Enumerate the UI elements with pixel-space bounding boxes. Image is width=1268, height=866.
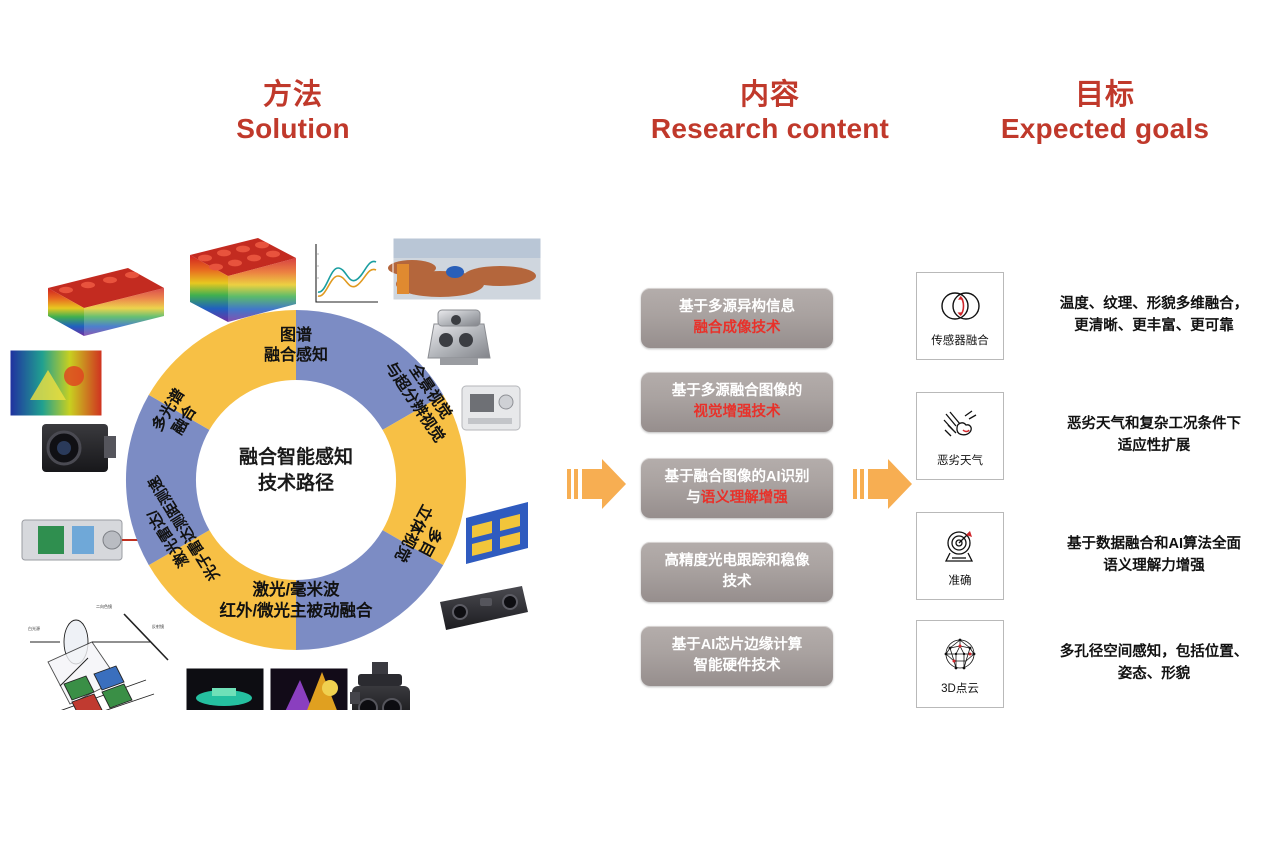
box-line-2: 融合成像技术 [679, 318, 795, 339]
header-en: Solution [168, 112, 418, 145]
goal-line-2: 更清晰、更丰富、更可靠 [1034, 316, 1268, 338]
center-line-1: 融合智能感知 [206, 445, 386, 471]
goal-card-point-cloud[interactable]: 3D点云 [916, 620, 1004, 708]
header-en: Research content [600, 112, 940, 145]
center-line-2: 技术路径 [206, 471, 386, 497]
label-line-2: 红外/微光主被动融合 [156, 601, 436, 622]
box-line-1: 基于多源异构信息 [679, 297, 795, 318]
flow-arrow-2 [852, 455, 916, 513]
box-line-2: 技术 [665, 572, 810, 593]
box-line-2-prefix: 与 [686, 490, 701, 506]
camera-module-thumb [42, 424, 116, 472]
column-header-expected-goals: 目标 Expected goals [955, 78, 1255, 145]
flow-arrow-1 [566, 455, 630, 513]
box-line-2: 视觉增强技术 [672, 402, 803, 423]
box-line-2: 语义理解增强 [701, 490, 788, 506]
goal-line-2: 适应性扩展 [1034, 436, 1268, 458]
svg-text:白光源: 白光源 [28, 625, 40, 631]
goal-row-point-cloud: 3D点云 多孔径空间感知，包括位置、 姿态、形貌 [916, 620, 1268, 708]
header-zh: 目标 [955, 78, 1255, 112]
box-line-2: 智能硬件技术 [672, 656, 803, 677]
svg-text:二向色镜: 二向色镜 [96, 603, 112, 609]
goal-caption: 3D点云 [941, 680, 979, 696]
wheel-label-top: 图谱 融合感知 [226, 326, 366, 366]
goal-description-point-cloud: 多孔径空间感知，包括位置、 姿态、形貌 [1034, 642, 1268, 686]
venn-fusion-icon [936, 284, 984, 328]
wheel-center-label: 融合智能感知 技术路径 [206, 445, 386, 496]
point-cloud-icon [936, 632, 984, 676]
research-box-1[interactable]: 基于多源融合图像的 视觉增强技术 [641, 372, 833, 432]
spectrum-plot-thumb [316, 244, 378, 302]
goal-row-sensor-fusion: 传感器融合 温度、纹理、形貌多维融合， 更清晰、更丰富、更可靠 [916, 272, 1268, 360]
column-header-solution: 方法 Solution [168, 78, 418, 145]
research-box-3[interactable]: 高精度光电跟踪和稳像 技术 [641, 542, 833, 602]
research-box-2[interactable]: 基于融合图像的AI识别 与语义理解增强 [641, 458, 833, 518]
thermal-scene-thumb [270, 668, 348, 710]
goal-caption: 传感器融合 [931, 332, 989, 348]
research-box-0[interactable]: 基于多源异构信息 融合成像技术 [641, 288, 833, 348]
goal-line-2: 姿态、形貌 [1034, 664, 1268, 686]
label-line-2: 融合感知 [226, 346, 366, 366]
box-line-1: 高精度光电跟踪和稳像 [665, 551, 810, 572]
goal-row-accuracy: 准确 基于数据融合和AI算法全面 语义理解力增强 [916, 512, 1268, 600]
technology-roadmap-wheel: 融合智能感知 技术路径 图谱 融合感知 全景视觉 与超分辨视觉 多目 立体视觉 … [116, 300, 476, 660]
goal-card-bad-weather[interactable]: 恶劣天气 [916, 392, 1004, 480]
header-zh: 方法 [168, 78, 418, 112]
svg-text:探测器阵列: 探测器阵列 [128, 709, 148, 710]
goal-line-1: 基于数据融合和AI算法全面 [1034, 534, 1268, 556]
header-en: Expected goals [955, 112, 1255, 145]
bad-weather-icon [936, 404, 984, 448]
goal-line-1: 恶劣天气和复杂工况条件下 [1034, 414, 1268, 436]
goal-description-sensor-fusion: 温度、纹理、形貌多维融合， 更清晰、更丰富、更可靠 [1034, 294, 1268, 338]
lidar-scan-thumb [186, 668, 264, 710]
header-zh: 内容 [600, 78, 940, 112]
gimbal-turret-thumb [350, 662, 410, 710]
goal-line-2: 语义理解力增强 [1034, 556, 1268, 578]
column-header-research-content: 内容 Research content [600, 78, 940, 145]
goal-line-1: 温度、纹理、形貌多维融合， [1034, 294, 1268, 316]
box-line-2-wrap: 与语义理解增强 [665, 488, 810, 509]
goal-row-bad-weather: 恶劣天气 恶劣天气和复杂工况条件下 适应性扩展 [916, 392, 1268, 480]
box-line-1: 基于AI芯片边缘计算 [672, 635, 803, 656]
box-line-1: 基于融合图像的AI识别 [665, 467, 810, 488]
box-line-1: 基于多源融合图像的 [672, 381, 803, 402]
label-line-1: 图谱 [226, 326, 366, 346]
goal-description-bad-weather: 恶劣天气和复杂工况条件下 适应性扩展 [1034, 414, 1268, 458]
goal-card-accuracy[interactable]: 准确 [916, 512, 1004, 600]
goal-line-1: 多孔径空间感知，包括位置、 [1034, 642, 1268, 664]
thermal-image-thumb [10, 350, 102, 416]
target-accuracy-icon [936, 524, 984, 568]
goal-caption: 恶劣天气 [937, 452, 983, 468]
diagram-canvas: 方法 Solution 内容 Research content 目标 Expec… [0, 0, 1268, 866]
research-box-4[interactable]: 基于AI芯片边缘计算 智能硬件技术 [641, 626, 833, 686]
goal-description-accuracy: 基于数据融合和AI算法全面 语义理解力增强 [1034, 534, 1268, 578]
goal-card-sensor-fusion[interactable]: 传感器融合 [916, 272, 1004, 360]
goal-caption: 准确 [949, 572, 972, 588]
